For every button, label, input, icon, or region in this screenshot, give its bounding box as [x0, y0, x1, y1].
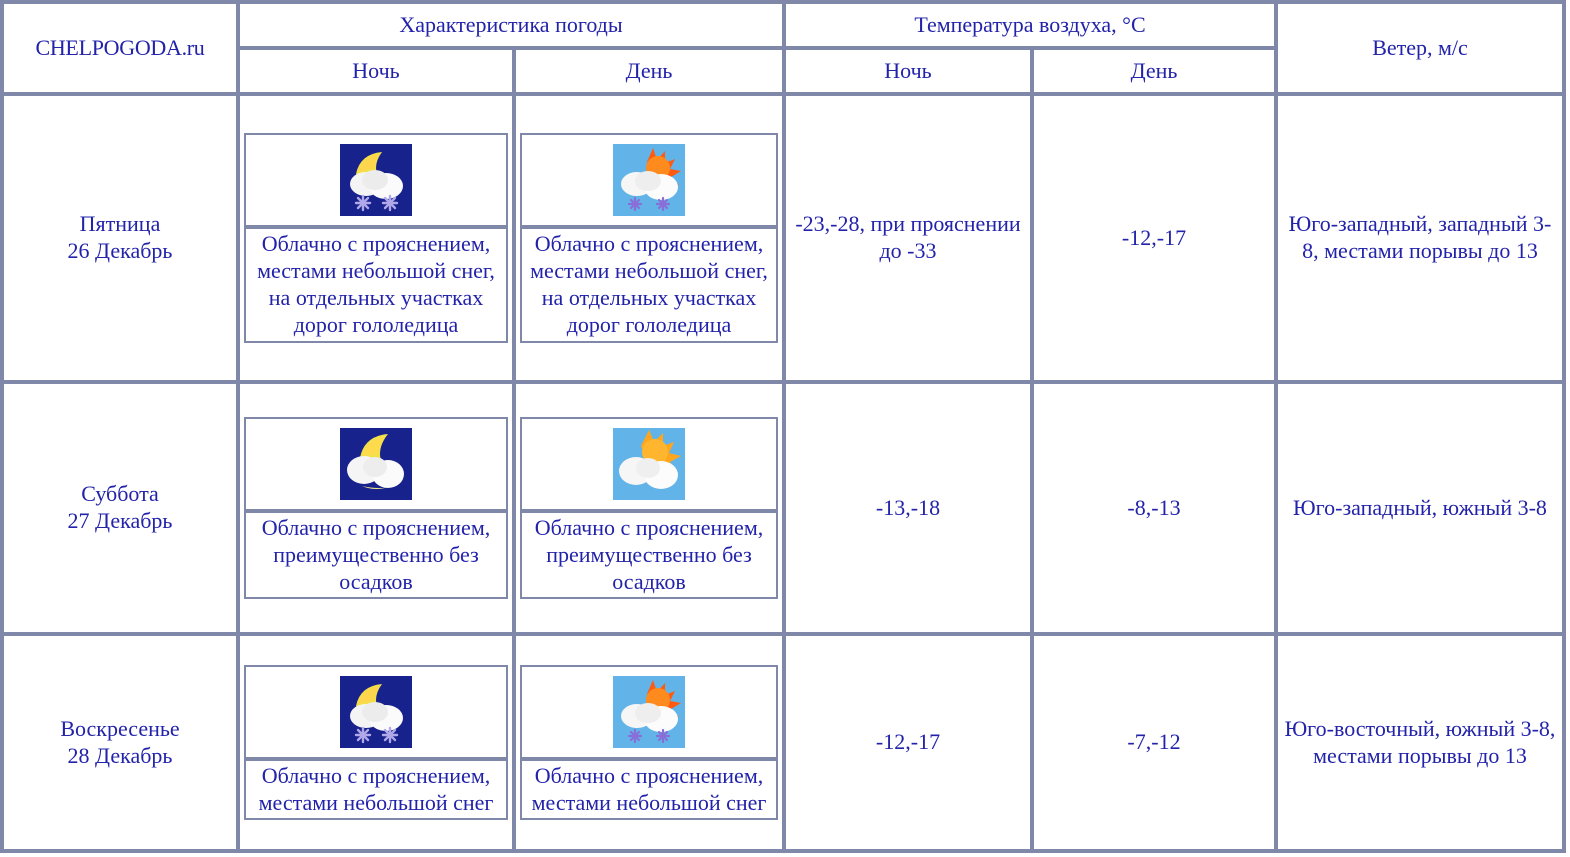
wind-description: Юго-западный, западный 3-8, местами поры…	[1276, 94, 1564, 382]
day-temperature: -8,-13	[1032, 382, 1276, 634]
header-weather-night: Ночь	[238, 48, 514, 94]
header-temp-night: Ночь	[784, 48, 1032, 94]
date-label: 28 Декабрь	[8, 743, 232, 770]
night-icon-cell	[244, 133, 508, 227]
table-row: Пятница 26 Декабрь	[2, 94, 1564, 382]
night-temperature: -12,-17	[784, 634, 1032, 851]
day-date-cell: Суббота 27 Декабрь	[2, 382, 238, 634]
table-row: Суббота 27 Декабрь	[2, 382, 1564, 634]
night-temperature: -13,-18	[784, 382, 1032, 634]
header-weather-group: Характеристика погоды	[238, 2, 784, 48]
day-description: Облачно с прояснением, местами небольшой…	[520, 759, 778, 821]
header-temperature-group: Температура воздуха, °C	[784, 2, 1276, 48]
day-icon-cell	[520, 133, 778, 227]
night-icon-cell	[244, 417, 508, 511]
day-temperature: -12,-17	[1032, 94, 1276, 382]
moon-clouds-snow-icon	[340, 676, 412, 748]
wind-description: Юго-восточный, южный 3-8, местами порывы…	[1276, 634, 1564, 851]
table-row: Воскресенье 28 Декабрь	[2, 634, 1564, 851]
header-wind-group: Ветер, м/с	[1276, 2, 1564, 94]
night-description: Облачно с прояснением, местами небольшой…	[244, 759, 508, 821]
header-temp-day: День	[1032, 48, 1276, 94]
table-header-row-top: CHELPOGODA.ru Характеристика погоды Темп…	[2, 2, 1564, 48]
weekday-label: Пятница	[8, 211, 232, 238]
day-date-cell: Пятница 26 Декабрь	[2, 94, 238, 382]
day-icon-cell	[520, 665, 778, 759]
night-icon-cell	[244, 665, 508, 759]
sun-clouds-snow-icon	[613, 676, 685, 748]
day-temperature: -7,-12	[1032, 634, 1276, 851]
sun-clouds-snow-icon	[613, 144, 685, 216]
day-weather-cell: Облачно с прояснением, преимущественно б…	[514, 382, 784, 634]
moon-clouds-snow-icon	[340, 144, 412, 216]
night-weather-cell: Облачно с прояснением, местами небольшой…	[238, 94, 514, 382]
date-label: 26 Декабрь	[8, 238, 232, 265]
night-description: Облачно с прояснением, местами небольшой…	[244, 227, 508, 342]
day-weather-cell: Облачно с прояснением, местами небольшой…	[514, 94, 784, 382]
wind-description: Юго-западный, южный 3-8	[1276, 382, 1564, 634]
header-weather-day: День	[514, 48, 784, 94]
weather-forecast-table: CHELPOGODA.ru Характеристика погоды Темп…	[0, 0, 1566, 853]
night-description: Облачно с прояснением, преимущественно б…	[244, 511, 508, 599]
site-brand: CHELPOGODA.ru	[2, 2, 238, 94]
day-description: Облачно с прояснением, преимущественно б…	[520, 511, 778, 599]
night-weather-cell: Облачно с прояснением, преимущественно б…	[238, 382, 514, 634]
date-label: 27 Декабрь	[8, 508, 232, 535]
day-description: Облачно с прояснением, местами небольшой…	[520, 227, 778, 342]
day-weather-cell: Облачно с прояснением, местами небольшой…	[514, 634, 784, 851]
moon-clouds-icon	[340, 428, 412, 500]
weekday-label: Суббота	[8, 481, 232, 508]
night-weather-cell: Облачно с прояснением, местами небольшой…	[238, 634, 514, 851]
sun-clouds-icon	[613, 428, 685, 500]
day-icon-cell	[520, 417, 778, 511]
day-date-cell: Воскресенье 28 Декабрь	[2, 634, 238, 851]
night-temperature: -23,-28, при прояснении до -33	[784, 94, 1032, 382]
weekday-label: Воскресенье	[8, 716, 232, 743]
